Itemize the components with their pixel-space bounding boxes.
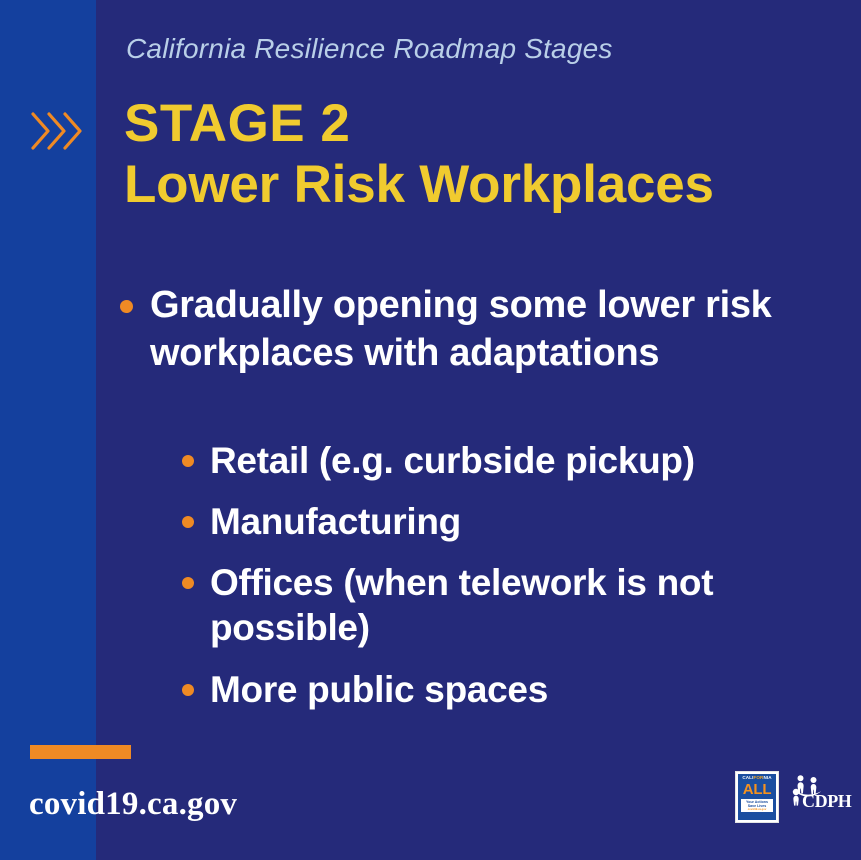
sub-bullet-list: Retail (e.g. curbside pickup) Manufactur… — [182, 438, 842, 728]
all-headline: ALL — [743, 782, 772, 797]
series-title: California Resilience Roadmap Stages — [126, 32, 826, 66]
california-wordmark-cali: CALI — [742, 775, 753, 780]
footer-accent-bar — [30, 745, 131, 759]
site-url[interactable]: covid19.ca.gov — [29, 786, 237, 823]
main-bullet-list: Gradually opening some lower risk workpl… — [120, 282, 850, 378]
bullet-dot-icon — [120, 300, 133, 313]
california-for-all-logo-inner: CALIFORNIA ALL Your Actions Save Lives c… — [738, 774, 776, 820]
bullet-dot-icon — [182, 577, 194, 589]
california-wordmark-for: FOR — [753, 775, 763, 780]
california-for-all-logo: CALIFORNIA ALL Your Actions Save Lives c… — [735, 771, 779, 823]
list-item: Retail (e.g. curbside pickup) — [182, 438, 842, 483]
california-wordmark: CALIFORNIA — [742, 776, 771, 781]
sub-bullet-text: Manufacturing — [210, 499, 842, 544]
tagline-url: covid19.ca.gov — [741, 808, 774, 811]
double-chevron-right-icon — [28, 108, 84, 154]
logo-group: CALIFORNIA ALL Your Actions Save Lives c… — [730, 770, 855, 832]
resilience-roadmap-poster: California Resilience Roadmap Stages STA… — [0, 0, 861, 860]
cdph-logo: CDPH — [792, 774, 854, 820]
list-item: Offices (when telework is not possible) — [182, 560, 842, 650]
list-item: Gradually opening some lower risk workpl… — [120, 282, 850, 378]
list-item: Manufacturing — [182, 499, 842, 544]
stage-name: Lower Risk Workplaces — [124, 157, 844, 212]
cdph-wordmark: CDPH — [802, 792, 851, 810]
california-wordmark-nia: NIA — [763, 775, 771, 780]
main-bullet-text: Gradually opening some lower risk workpl… — [150, 282, 850, 378]
stage-number: STAGE 2 — [124, 96, 844, 151]
list-item: More public spaces — [182, 667, 842, 712]
tagline-box: Your Actions Save Lives covid19.ca.gov — [741, 799, 774, 812]
bullet-dot-icon — [182, 455, 194, 467]
sub-bullet-text: Offices (when telework is not possible) — [210, 560, 842, 650]
bullet-dot-icon — [182, 516, 194, 528]
sub-bullet-text: More public spaces — [210, 667, 842, 712]
bullet-dot-icon — [182, 684, 194, 696]
page-title: STAGE 2 Lower Risk Workplaces — [124, 96, 844, 212]
sub-bullet-text: Retail (e.g. curbside pickup) — [210, 438, 842, 483]
